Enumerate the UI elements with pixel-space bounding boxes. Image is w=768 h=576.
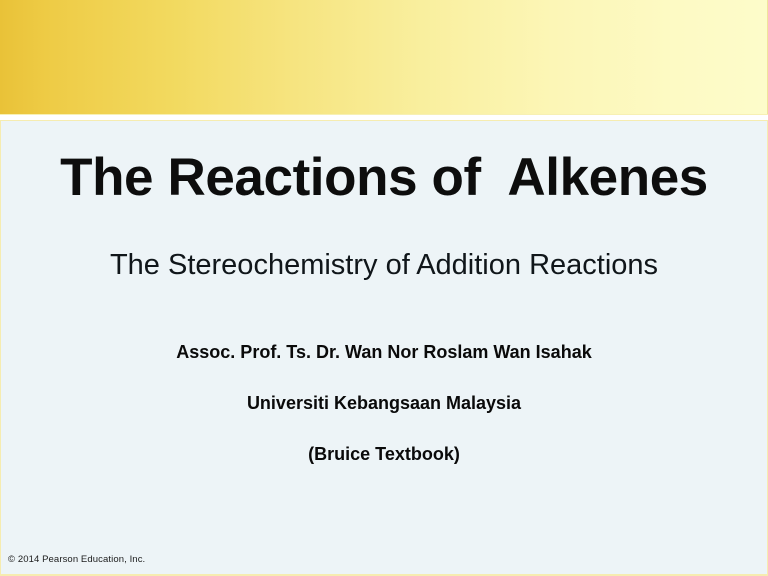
credit-line-presenter: Assoc. Prof. Ts. Dr. Wan Nor Roslam Wan … bbox=[1, 343, 767, 363]
title-block: The Reactions of Alkenes bbox=[1, 149, 767, 206]
credit-line-institution: Universiti Kebangsaan Malaysia bbox=[1, 394, 767, 414]
header-divider-line bbox=[0, 114, 768, 115]
presenter-credit-block: Assoc. Prof. Ts. Dr. Wan Nor Roslam Wan … bbox=[1, 343, 767, 464]
header-gradient-band bbox=[0, 0, 768, 115]
presentation-slide: The Reactions of Alkenes The Stereochemi… bbox=[0, 0, 768, 576]
copyright-footer: © 2014 Pearson Education, Inc. bbox=[8, 554, 145, 565]
page-title: The Reactions of Alkenes bbox=[1, 149, 767, 206]
credit-line-textbook: (Bruice Textbook) bbox=[1, 445, 767, 465]
subtitle-block: The Stereochemistry of Addition Reaction… bbox=[1, 249, 767, 282]
page-subtitle: The Stereochemistry of Addition Reaction… bbox=[1, 249, 767, 282]
slide-body-panel: The Reactions of Alkenes The Stereochemi… bbox=[0, 120, 768, 576]
